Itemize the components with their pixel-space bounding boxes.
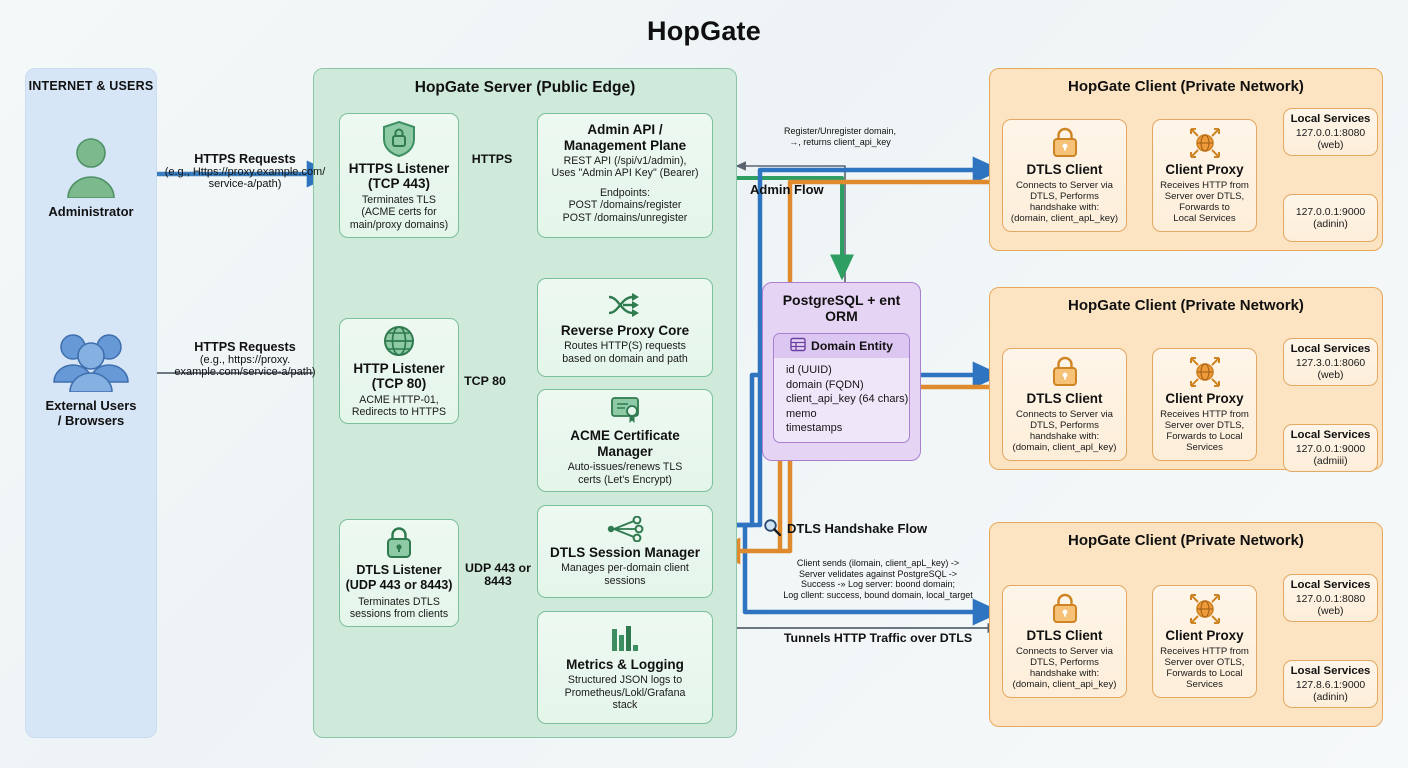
magnifier-icon <box>763 518 781 539</box>
node-local-service-3a[interactable]: Local Services 127.0.0.1:8080(web) <box>1283 574 1378 622</box>
user-icon <box>25 136 157 198</box>
edge-label-https: HTTPS <box>461 153 523 166</box>
node-client-proxy-2-title: Client Proxy <box>1165 391 1243 407</box>
node-dtls-client-2-sub: Connects to Server viaDTLS, Performs han… <box>1013 409 1117 453</box>
node-metrics-title: Metrics & Logging <box>566 657 684 673</box>
zone-client-1-title: HopGate Client (Private Network) <box>990 78 1382 95</box>
edge-label-udp: UDP 443 or8443 <box>462 562 534 587</box>
node-reverse-proxy-core[interactable]: Reverse Proxy Core Routes HTTP(S) reques… <box>537 278 713 377</box>
edge-label-admin-flow: Admin Flow <box>750 182 824 197</box>
node-acme-title: ACME Certificate Manager <box>570 428 680 459</box>
domain-entity-name: Domain Entity <box>811 339 893 353</box>
node-https-listener-sub: Terminates TLS (ACME certs for main/prox… <box>350 194 448 231</box>
lock-icon <box>1050 593 1080 625</box>
network-globe-icon <box>1188 593 1222 625</box>
node-dtls-session-manager[interactable]: DTLS Session Manager Manages per-domain … <box>537 505 713 598</box>
node-reverse-proxy-sub: Routes HTTP(S) requests based on domain … <box>562 340 687 365</box>
globe-icon <box>382 324 416 358</box>
node-dtls-listener-sub: Terminates DTLS sessions from clients <box>350 596 448 621</box>
local-service-3b-addr: 127.8.6.1:9000(adinin) <box>1296 680 1365 704</box>
node-local-service-1b[interactable]: 127.0.0.1:9000(adinin) <box>1283 194 1378 242</box>
node-admin-api[interactable]: Admin API / Management Plane REST API (/… <box>537 113 713 238</box>
node-dtls-listener-title: DTLS Listener (UDP 443 or 8443) <box>346 563 453 594</box>
entity-field: client_api_key (64 chars) <box>786 392 909 407</box>
page-title: HopGate <box>0 16 1408 47</box>
certificate-icon <box>609 395 641 425</box>
node-client-proxy-1[interactable]: Client Proxy Receives HTTP fromServer ov… <box>1152 119 1257 232</box>
edge-label-admin-https: HTTPS Requests (e.g., Https://proxy.exam… <box>157 153 333 191</box>
node-dtls-session-manager-title: DTLS Session Manager <box>550 545 700 561</box>
node-http-listener[interactable]: HTTP Listener (TCP 80) ACME HTTP-01, Red… <box>339 318 459 424</box>
node-local-service-2a[interactable]: Local Services 127.3.0.1:8060(web) <box>1283 338 1378 386</box>
entity-field: timestamps <box>786 421 909 436</box>
zone-client-2-title: HopGate Client (Private Network) <box>990 297 1382 314</box>
local-service-3b-title: Losal Services <box>1291 664 1371 680</box>
share-nodes-icon <box>606 516 644 542</box>
local-service-2a-addr: 127.3.0.1:8060(web) <box>1296 358 1365 382</box>
node-postgresql-ent-orm[interactable]: PostgreSQL + ent ORM Domain Entity id (U… <box>762 282 921 461</box>
node-client-proxy-1-title: Client Proxy <box>1165 162 1243 178</box>
users-group-icon <box>25 330 157 392</box>
edge-label-dtls-handshake-detail: Client sends (ilomain, client_apL_key) -… <box>733 558 1023 600</box>
node-local-service-3b[interactable]: Losal Services 127.8.6.1:9000(adinin) <box>1283 660 1378 708</box>
node-dtls-client-1-title: DTLS Client <box>1027 162 1103 178</box>
node-metrics-logging[interactable]: Metrics & Logging Structured JSON logs t… <box>537 611 713 724</box>
node-acme-sub: Auto-issues/renews TLS certs (Let's Encr… <box>568 461 683 486</box>
node-local-service-1a[interactable]: Local Services 127.0.0.1:8080(web) <box>1283 108 1378 156</box>
node-metrics-sub: Structured JSON logs to Prometheus/Lokl/… <box>565 674 686 711</box>
local-service-3a-addr: 127.0.0.1:8080(web) <box>1296 594 1365 618</box>
actor-external-users-label: External Users / Browsers <box>25 398 157 428</box>
domain-entity-header: Domain Entity <box>774 334 909 358</box>
local-service-2b-addr: 127.0.0.1:9000(admiii) <box>1296 444 1365 468</box>
edge-label-users-https: HTTPS Requests (e.g., https://proxy. exa… <box>152 341 338 379</box>
node-http-listener-sub: ACME HTTP-01, Redirects to HTTPS <box>352 394 446 419</box>
local-service-2a-title: Local Services <box>1291 342 1371 358</box>
network-globe-icon <box>1188 356 1222 388</box>
zone-server-title: HopGate Server (Public Edge) <box>314 79 736 97</box>
edge-label-tcp80: TCP 80 <box>455 375 515 388</box>
zone-client-3-title: HopGate Client (Private Network) <box>990 532 1382 549</box>
network-globe-icon <box>1188 127 1222 159</box>
node-dtls-client-3-sub: Connects to Server viaDTLS, Performs han… <box>1013 646 1117 690</box>
node-client-proxy-2-sub: Receives HTTP fromServer over DTLS, Forw… <box>1160 409 1249 453</box>
node-https-listener-title: HTTPS Listener (TCP 443) <box>349 161 450 192</box>
shield-lock-icon <box>381 120 417 158</box>
node-admin-api-endpoints: Endpoints: POST /domains/register POST /… <box>563 187 688 224</box>
entity-field: domain (FQDN) <box>786 378 909 393</box>
domain-entity-fields: id (UUID) domain (FQDN) client_api_key (… <box>774 358 909 442</box>
node-admin-api-sub: REST API (/spi/v1/admin), Uses "Admin AP… <box>551 155 698 180</box>
bar-chart-icon <box>609 624 641 654</box>
shuffle-icon <box>605 290 645 320</box>
zone-internet-title: INTERNET & USERS <box>26 79 156 93</box>
lock-icon <box>1050 356 1080 388</box>
node-dtls-listener[interactable]: DTLS Listener (UDP 443 or 8443) Terminat… <box>339 519 459 627</box>
node-https-listener[interactable]: HTTPS Listener (TCP 443) Terminates TLS … <box>339 113 459 238</box>
actor-external-users: External Users / Browsers <box>25 330 157 428</box>
node-dtls-client-3-title: DTLS Client <box>1027 628 1103 644</box>
lock-icon <box>1050 127 1080 159</box>
local-service-1a-title: Local Services <box>1291 112 1371 128</box>
actor-administrator: Administrator <box>25 136 157 219</box>
dtls-handshake-flow-label: DTLS Handshake Flow <box>787 521 927 536</box>
node-client-proxy-3[interactable]: Client Proxy Receives HTTP fromServer ov… <box>1152 585 1257 698</box>
table-icon <box>790 337 806 355</box>
node-dtls-session-manager-sub: Manages per-domain client sessions <box>561 562 689 587</box>
node-dtls-client-1[interactable]: DTLS Client Connects to Server viaDTLS, … <box>1002 119 1127 232</box>
node-local-service-2b[interactable]: Local Services 127.0.0.1:9000(admiii) <box>1283 424 1378 472</box>
node-http-listener-title: HTTP Listener (TCP 80) <box>353 361 444 392</box>
node-dtls-client-2-title: DTLS Client <box>1027 391 1103 407</box>
node-reverse-proxy-title: Reverse Proxy Core <box>561 323 689 339</box>
database-title: PostgreSQL + ent ORM <box>773 292 910 324</box>
node-dtls-client-2[interactable]: DTLS Client Connects to Server viaDTLS, … <box>1002 348 1127 461</box>
lock-icon <box>383 526 415 560</box>
local-service-3a-title: Local Services <box>1291 578 1371 594</box>
local-service-1b-addr: 127.0.0.1:9000(adinin) <box>1296 207 1365 231</box>
entity-field: id (UUID) <box>786 363 909 378</box>
node-client-proxy-2[interactable]: Client Proxy Receives HTTP fromServer ov… <box>1152 348 1257 461</box>
actor-administrator-label: Administrator <box>25 204 157 219</box>
node-client-proxy-3-title: Client Proxy <box>1165 628 1243 644</box>
node-client-proxy-1-sub: Receives HTTP fromServer over DTLS, Forw… <box>1160 180 1249 224</box>
edge-label-tunnel-http: Tunnels HTTP Traffic over DTLS <box>733 632 1023 645</box>
domain-entity-card: Domain Entity id (UUID) domain (FQDN) cl… <box>773 333 910 443</box>
local-service-1a-addr: 127.0.0.1:8080(web) <box>1296 128 1365 152</box>
node-acme-certificate-manager[interactable]: ACME Certificate Manager Auto-issues/ren… <box>537 389 713 492</box>
edge-label-dtls-handshake-flow: DTLS Handshake Flow <box>763 518 927 539</box>
diagram-canvas: HopGate <box>0 0 1408 768</box>
node-client-proxy-3-sub: Receives HTTP fromServer over OTLS, Forw… <box>1160 646 1249 690</box>
local-service-2b-title: Local Services <box>1291 428 1371 444</box>
node-admin-api-title: Admin API / Management Plane <box>564 122 686 153</box>
node-dtls-client-1-sub: Connects to Server viaDTLS, Performs han… <box>1011 180 1118 224</box>
edge-label-register-unregister: Register/Unregister domain, →, returns c… <box>740 126 940 147</box>
entity-field: memo <box>786 407 909 422</box>
